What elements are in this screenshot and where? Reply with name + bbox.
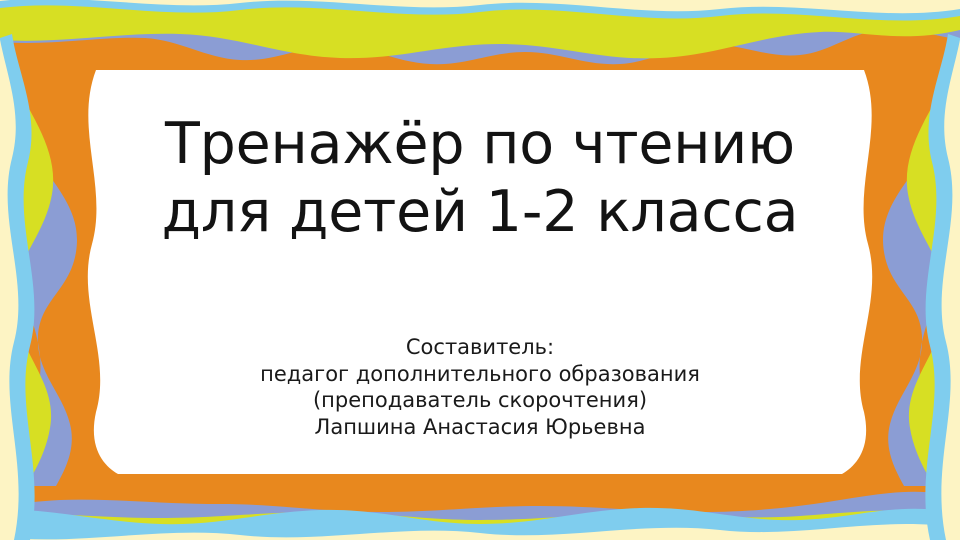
subtitle-line-author-label: Составитель: [130,334,830,361]
subtitle-line-specialty: (преподаватель скорочтения) [130,387,830,414]
subtitle-line-role: педагог дополнительного образования [130,361,830,388]
title-line-2: для детей 1-2 класса [110,178,850,246]
title-line-1: Тренажёр по чтению [110,110,850,178]
slide-content: Тренажёр по чтению для детей 1-2 класса … [0,0,960,540]
slide-title: Тренажёр по чтению для детей 1-2 класса [110,110,850,246]
title-slide: Тренажёр по чтению для детей 1-2 класса … [0,0,960,540]
slide-subtitle: Составитель: педагог дополнительного обр… [130,334,830,440]
subtitle-line-author-name: Лапшина Анастасия Юрьевна [130,414,830,441]
